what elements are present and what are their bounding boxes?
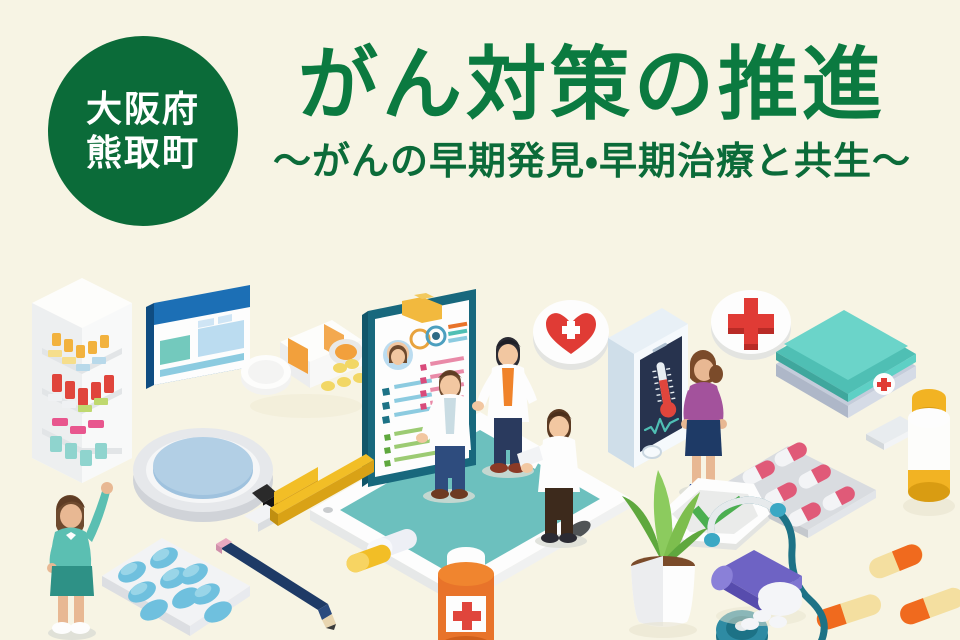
title-block: がん対策の推進 〜がんの早期発見・早期治療と共生〜 [262,40,922,185]
badge-prefecture: 大阪府 [86,87,200,131]
banner: 大阪府 熊取町 がん対策の推進 〜がんの早期発見・早期治療と共生〜 [0,0,960,640]
page-subtitle: 〜がんの早期発見・早期治療と共生〜 [262,140,922,186]
pill-capsule-white-icon [340,538,435,593]
capsule-orange-c-icon [905,590,960,632]
page-title: がん対策の推進 [262,40,922,130]
potted-plant-icon [608,446,718,636]
pencil-icon [212,538,337,633]
doctor-right-figure [525,398,597,548]
medicine-shelf-icon [22,278,142,493]
illustration-scene [0,250,960,640]
pill-bottle-purple-icon [706,542,816,627]
municipality-badge: 大阪府 熊取町 [48,36,238,226]
header: 大阪府 熊取町 がん対策の推進 〜がんの早期発見・早期治療と共生〜 [0,0,960,250]
medicine-bottle-yellow-icon [898,378,960,518]
badge-town: 熊取町 [86,131,200,175]
